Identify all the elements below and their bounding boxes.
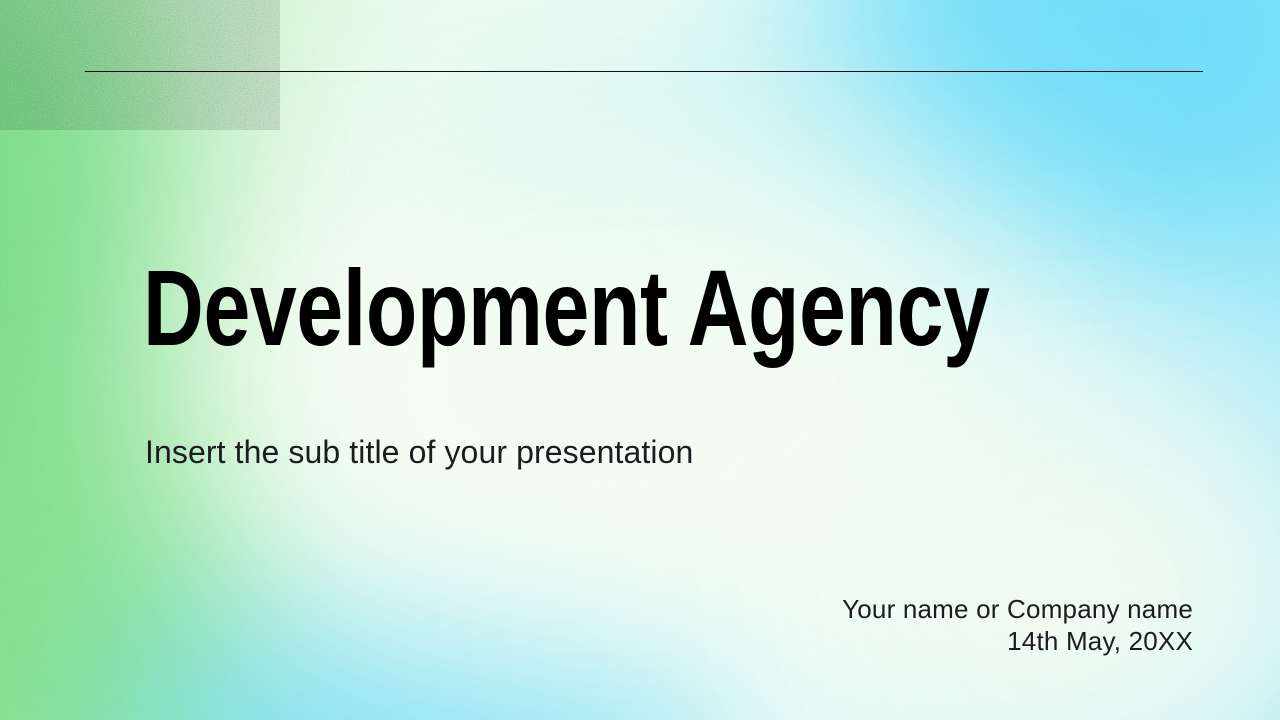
page-title: Development Agency [143, 254, 990, 362]
footer-block: Your name or Company name 14th May, 20XX [842, 594, 1193, 658]
presentation-title-slide: Development Agency Insert the sub title … [0, 0, 1280, 720]
page-subtitle: Insert the sub title of your presentatio… [145, 433, 693, 471]
footer-author: Your name or Company name [842, 594, 1193, 626]
footer-date: 14th May, 20XX [842, 626, 1193, 658]
header-divider-rule [85, 71, 1203, 72]
